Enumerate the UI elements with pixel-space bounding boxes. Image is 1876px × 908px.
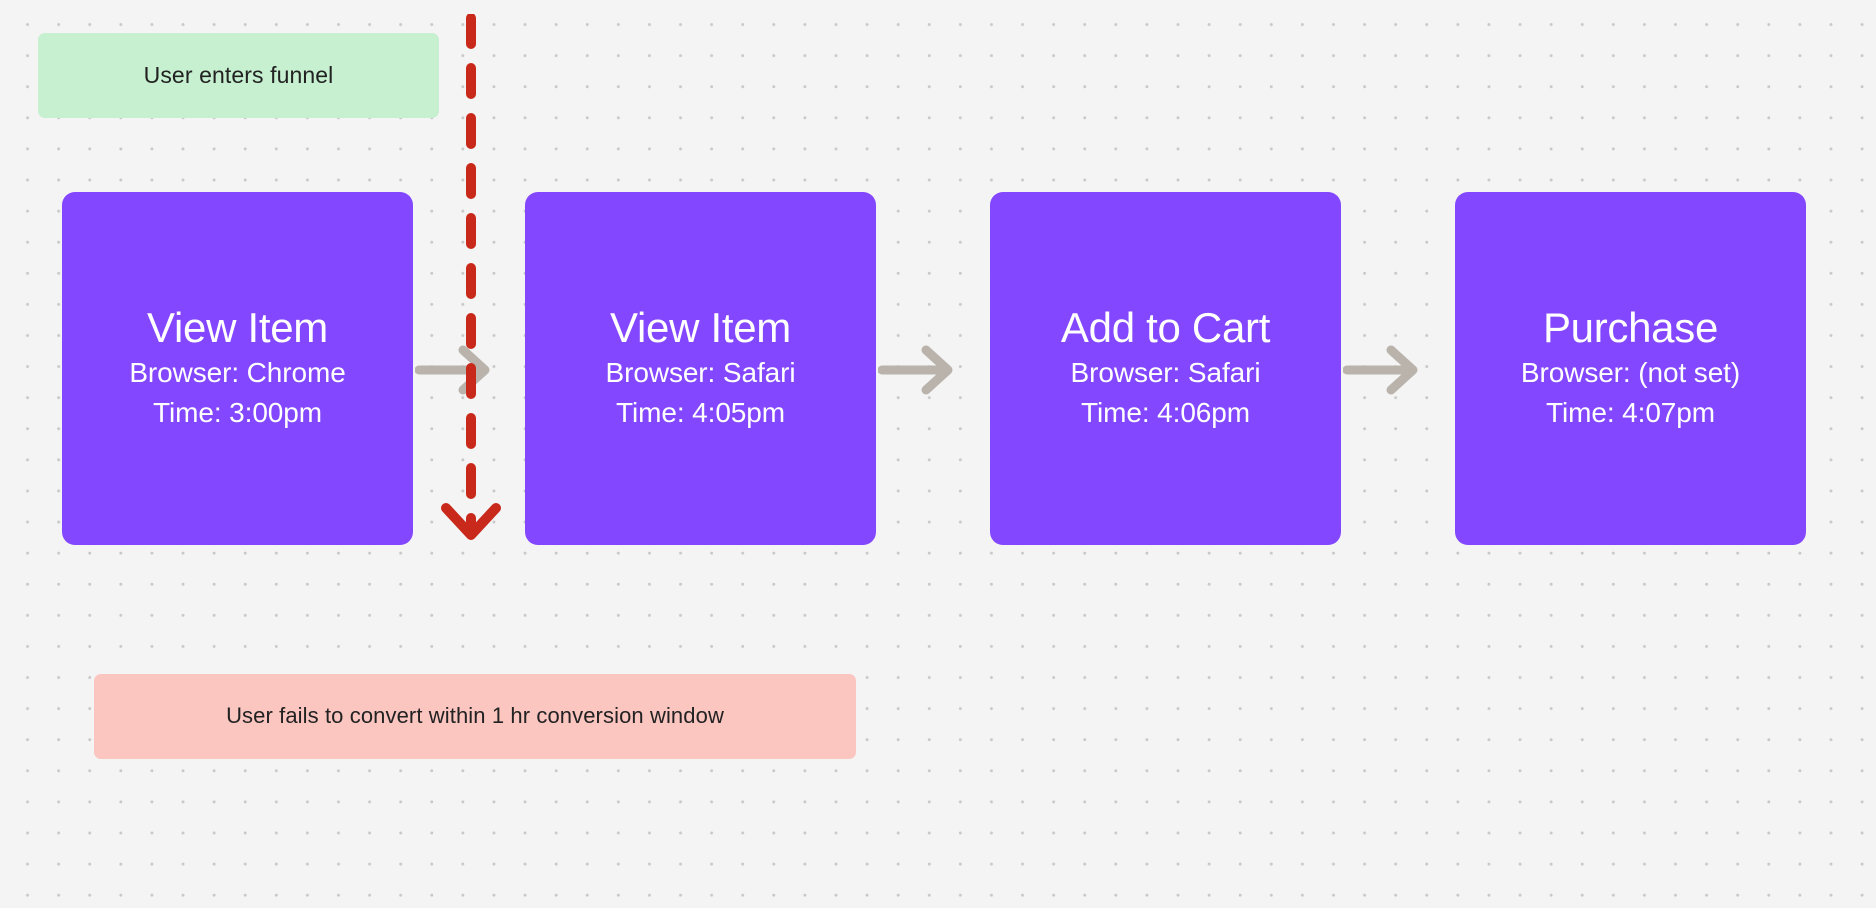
step-title: View Item	[610, 304, 791, 351]
step-browser: Browser: (not set)	[1521, 353, 1740, 393]
step-time: Time: 3:00pm	[153, 393, 322, 433]
annotation-fail-label: User fails to convert within 1 hr conver…	[226, 703, 724, 729]
diagram-canvas: User enters funnel View Item Browser: Ch…	[0, 0, 1876, 908]
step-browser: Browser: Chrome	[129, 353, 345, 393]
step-title: Purchase	[1543, 304, 1718, 351]
step-title: View Item	[147, 304, 328, 351]
annotation-user-fails-to-convert[interactable]: User fails to convert within 1 hr conver…	[94, 674, 856, 759]
arrow-right-icon	[1343, 345, 1427, 395]
dashed-arrow-down-icon	[424, 14, 518, 654]
funnel-step-view-item-safari[interactable]: View Item Browser: Safari Time: 4:05pm	[525, 192, 876, 545]
arrow-right-icon	[878, 345, 962, 395]
annotation-user-enters-funnel[interactable]: User enters funnel	[38, 33, 439, 118]
step-time: Time: 4:06pm	[1081, 393, 1250, 433]
step-browser: Browser: Safari	[1071, 353, 1261, 393]
step-time: Time: 4:05pm	[616, 393, 785, 433]
funnel-step-view-item-chrome[interactable]: View Item Browser: Chrome Time: 3:00pm	[62, 192, 413, 545]
step-browser: Browser: Safari	[606, 353, 796, 393]
step-title: Add to Cart	[1061, 304, 1270, 351]
funnel-step-purchase[interactable]: Purchase Browser: (not set) Time: 4:07pm	[1455, 192, 1806, 545]
annotation-enter-label: User enters funnel	[144, 62, 334, 90]
step-time: Time: 4:07pm	[1546, 393, 1715, 433]
funnel-step-add-to-cart[interactable]: Add to Cart Browser: Safari Time: 4:06pm	[990, 192, 1341, 545]
